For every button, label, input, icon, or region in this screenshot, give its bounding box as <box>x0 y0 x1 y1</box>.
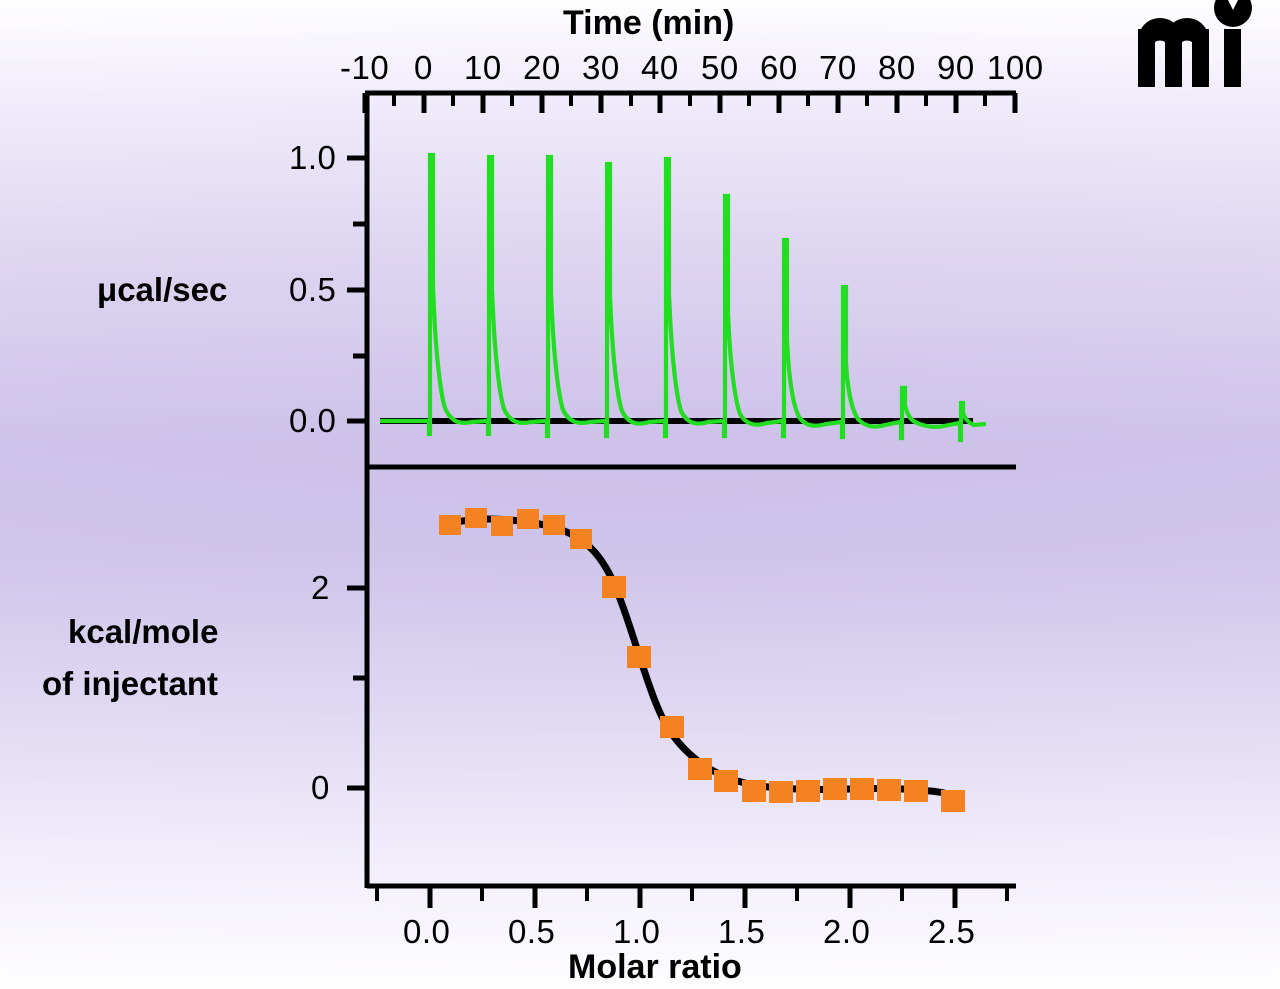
upper-y-tick-label-0p0: 0.0 <box>289 402 336 440</box>
top-tick-label-30: 30 <box>582 49 620 87</box>
data-point <box>439 515 461 535</box>
data-point <box>517 509 539 529</box>
lower-y-tick-label-2: 2 <box>311 569 330 607</box>
upper-y-axis-title: μcal/sec <box>97 271 227 309</box>
data-point <box>714 770 738 792</box>
bottom-tick-label-0p5: 0.5 <box>508 913 555 951</box>
data-point <box>570 529 592 549</box>
top-tick-label-0: 0 <box>414 49 433 87</box>
data-point <box>491 516 513 536</box>
lower-y-tick-label-0: 0 <box>311 769 330 807</box>
top-axis-title: Time (min) <box>563 4 734 43</box>
lower-y-axis-title-line2: of injectant <box>42 666 218 703</box>
top-tick-label-10: 10 <box>464 49 502 87</box>
top-tick-label-70: 70 <box>819 49 857 87</box>
data-point <box>627 646 651 668</box>
data-point <box>796 780 820 802</box>
upper-y-tick-label-1p0: 1.0 <box>289 139 336 177</box>
data-point <box>850 778 874 800</box>
bottom-tick-label-1p0: 1.0 <box>613 913 660 951</box>
bottom-tick-label-2p5: 2.5 <box>928 913 975 951</box>
data-point <box>941 790 965 812</box>
lower-y-major-ticks <box>347 588 367 788</box>
top-tick-label-100: 100 <box>987 49 1044 87</box>
plot-canvas <box>0 0 1280 989</box>
upper-y-major-ticks <box>347 158 367 421</box>
bottom-tick-label-0p0: 0.0 <box>403 913 450 951</box>
data-point <box>823 778 847 800</box>
data-point <box>465 508 487 528</box>
data-point <box>688 758 712 780</box>
data-point <box>877 779 901 801</box>
lower-y-axis-title-line1: kcal/mole <box>68 614 218 651</box>
top-tick-label-40: 40 <box>641 49 679 87</box>
top-tick-label-neg10: -10 <box>340 49 389 87</box>
top-tick-label-50: 50 <box>701 49 739 87</box>
data-point <box>660 716 684 738</box>
logo-i-stem <box>1224 29 1241 87</box>
itc-figure: Time (min) -10 0 10 20 30 40 50 60 70 80… <box>0 0 1280 989</box>
logo-m-stem-right <box>1192 29 1209 87</box>
bottom-tick-label-2p0: 2.0 <box>823 913 870 951</box>
upper-y-tick-label-0p5: 0.5 <box>289 271 336 309</box>
top-tick-label-90: 90 <box>937 49 975 87</box>
data-point <box>602 576 626 598</box>
bottom-tick-label-1p5: 1.5 <box>718 913 765 951</box>
top-tick-label-60: 60 <box>760 49 798 87</box>
data-point <box>769 781 793 803</box>
data-point <box>742 780 766 802</box>
top-tick-label-20: 20 <box>523 49 561 87</box>
top-tick-label-80: 80 <box>878 49 916 87</box>
lower-axis-group <box>367 467 1016 888</box>
data-point <box>543 515 565 535</box>
bottom-axis-title: Molar ratio <box>568 948 742 987</box>
fit-curve <box>451 519 956 797</box>
thermogram-trace <box>380 155 986 440</box>
microcal-logo <box>1128 0 1278 108</box>
upper-axis-group <box>365 93 1016 467</box>
data-point <box>904 780 928 802</box>
data-markers <box>439 508 965 812</box>
